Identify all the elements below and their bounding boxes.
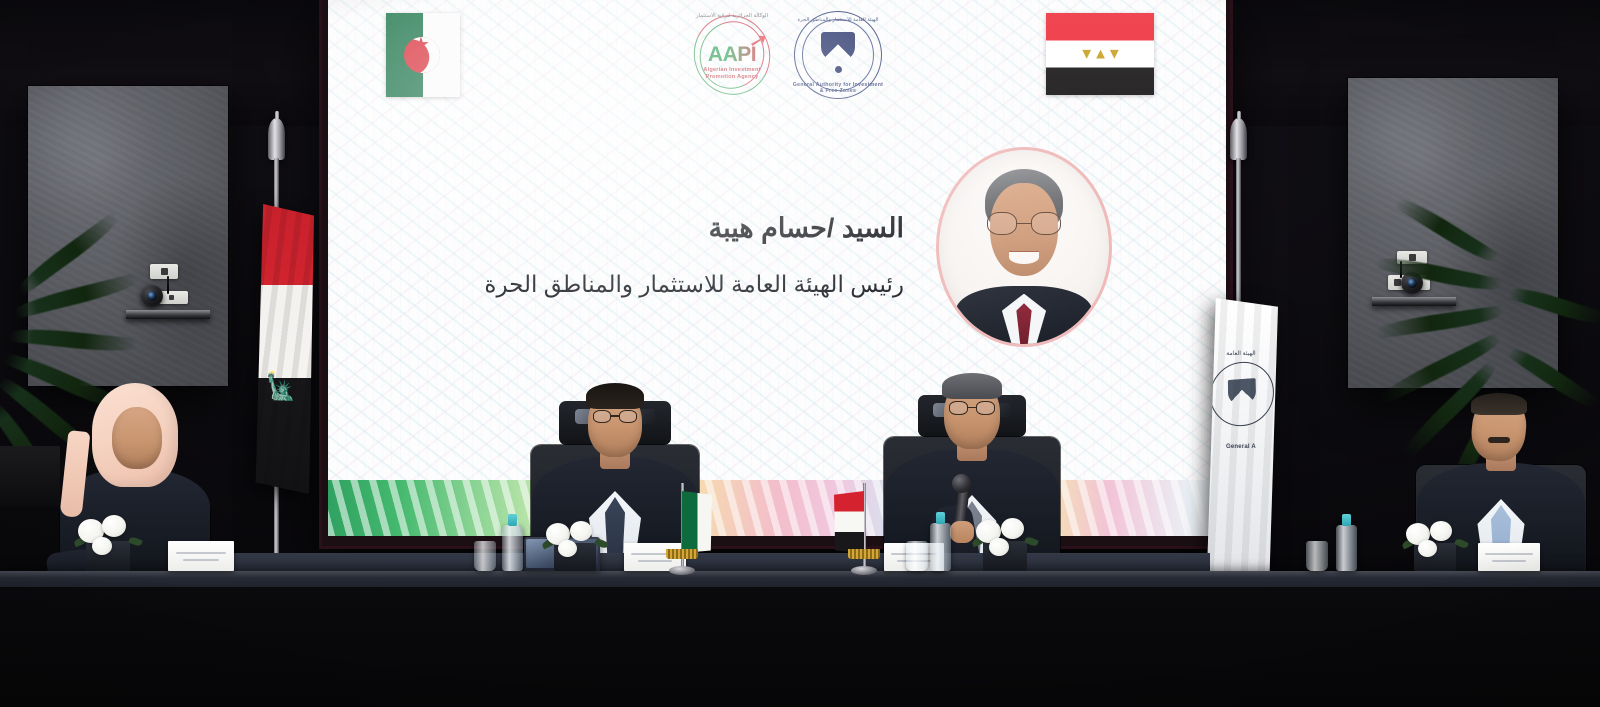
egypt-flag-icon: ▼▲▼	[1046, 13, 1154, 95]
gafi-emblem-icon	[821, 32, 855, 62]
panelist-4-description: Man with moustache in dark suit and ligh…	[1396, 345, 1397, 346]
left-wall-outlet	[150, 264, 178, 279]
panelist-3-description: Man with glasses speaking into a handhel…	[862, 335, 863, 336]
nameplate-card	[168, 541, 234, 571]
egypt-standing-flag: 🗽 Egypt national flag	[252, 118, 332, 558]
gafi-banner-arabic: الهيئة العامة	[1204, 350, 1278, 357]
right-camera-cable	[1400, 261, 1402, 278]
gafi-logo: الهيئة العامة للاستثمار والمناطق الحرة G…	[790, 7, 886, 103]
slide-speaker-title: رئيس الهيئة العامة للاستثمار والمناطق ال…	[484, 271, 904, 298]
speaker-portrait	[936, 147, 1112, 347]
glasses-icon	[593, 410, 637, 423]
gafi-banner-cloth: الهيئة العامة General A	[1204, 298, 1278, 588]
gafi-english-text: General Authority for Investment & Free …	[790, 82, 886, 94]
glasses-icon	[949, 401, 995, 415]
egypt-eagle-icon: ▼▲▼	[1079, 46, 1121, 63]
gafi-banner-finial	[1230, 118, 1247, 160]
egypt-eagle-emblem-icon: 🗽	[264, 371, 297, 403]
slide-logo-row: الوكالة الجزائرية لترقية الاستثمار AAPI …	[328, 7, 1226, 105]
drinking-glass	[906, 541, 928, 571]
water-bottle	[930, 523, 951, 571]
water-bottle	[1336, 525, 1357, 571]
white-rose-arrangement	[532, 511, 618, 571]
panelist-2-description: Man with glasses in dark suit and navy p…	[510, 345, 511, 346]
aapi-logo: الوكالة الجزائرية لترقية الاستثمار AAPI …	[684, 9, 780, 101]
projection-screen: الوكالة الجزائرية لترقية الاستثمار AAPI …	[322, 0, 1230, 546]
drinking-glass	[474, 541, 496, 571]
rose	[1001, 518, 1024, 539]
algeria-desk-flag	[664, 483, 700, 571]
slide-speaker-name: السيد /حسام هيبة	[709, 213, 904, 244]
microphone-head-icon	[952, 474, 971, 493]
aapi-arabic-text: الوكالة الجزائرية لترقية الاستثمار	[684, 13, 780, 19]
rose	[1418, 540, 1437, 557]
gafi-standing-banner: الهيئة العامة General A General Authorit…	[1204, 118, 1294, 558]
right-wall-shelf	[1372, 297, 1456, 306]
rose	[570, 521, 592, 541]
drinking-glass	[1306, 541, 1328, 571]
gafi-standing-banner-label: General Authority for Investment & Free …	[1204, 118, 1205, 119]
gafi-arabic-text: الهيئة العامة للاستثمار والمناطق الحرة	[790, 17, 886, 23]
rose	[92, 537, 112, 555]
egypt-flag-finial	[268, 118, 285, 160]
slide-color-band	[328, 480, 1226, 536]
rose	[989, 538, 1009, 556]
algeria-flag-icon	[386, 13, 460, 97]
rose	[1430, 521, 1452, 541]
hair	[1471, 393, 1527, 415]
hair	[942, 373, 1002, 399]
left-concrete-panel	[28, 86, 228, 386]
white-rose-arrangement	[62, 509, 154, 571]
nameplate-card	[1478, 543, 1540, 571]
hair	[586, 383, 644, 409]
egypt-desk-flag	[846, 483, 882, 571]
aapi-subtitle-line2: Promotion Agency	[706, 74, 759, 80]
right-wall-camera	[1401, 272, 1423, 294]
panelist-1-description: Woman in peach hijab and black outfit	[40, 355, 41, 356]
moustache-icon	[1488, 437, 1510, 443]
gafi-banner-emblem-icon	[1210, 360, 1275, 429]
head	[112, 407, 162, 469]
gafi-banner-english: General A	[1204, 444, 1278, 450]
aapi-subtitle-line1: Algerian Investment	[703, 67, 760, 73]
water-bottle	[502, 525, 523, 571]
rose	[558, 540, 577, 557]
slide-surface: الوكالة الجزائرية لترقية الاستثمار AAPI …	[328, 0, 1226, 536]
right-concrete-panel	[1348, 78, 1558, 388]
white-rose-arrangement	[1392, 511, 1478, 571]
egypt-flag-cloth: 🗽	[252, 204, 314, 494]
left-wall-shelf	[126, 310, 210, 319]
floor-band	[0, 587, 1600, 707]
rose	[102, 515, 126, 537]
egypt-standing-flag-label: Egypt national flag	[252, 118, 253, 119]
portrait-glasses-icon	[987, 212, 1062, 235]
left-wall-camera	[141, 285, 163, 307]
white-rose-arrangement	[962, 509, 1048, 571]
conference-photo: الوكالة الجزائرية لترقية الاستثمار AAPI …	[0, 0, 1600, 707]
left-camera-cable	[167, 276, 169, 294]
